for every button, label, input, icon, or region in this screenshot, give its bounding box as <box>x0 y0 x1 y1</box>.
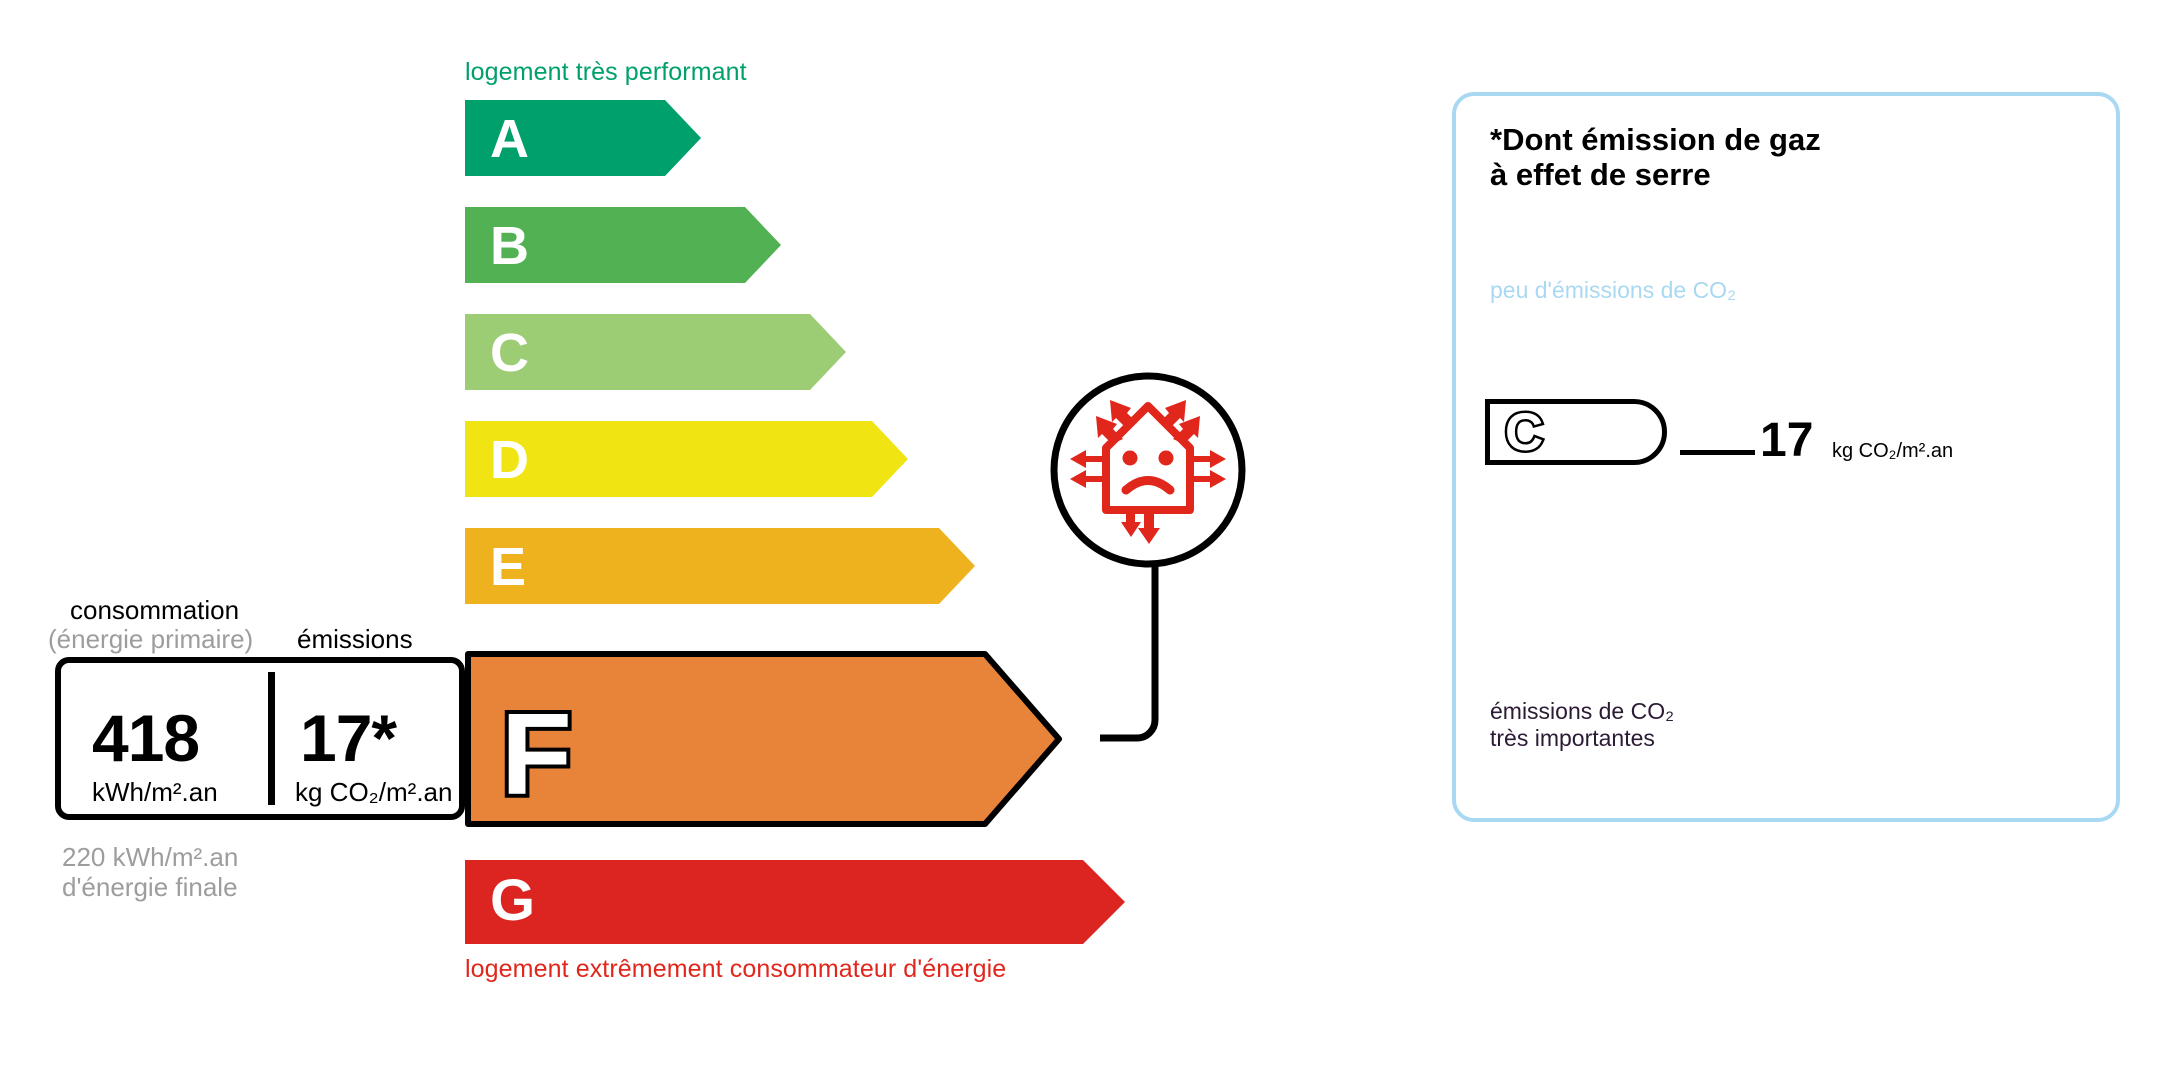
energy-band-a-shape <box>465 100 701 176</box>
energy-band-d-shape <box>465 421 908 497</box>
co2-bottom-caption-line2: très importantes <box>1490 725 1674 752</box>
co2-value: 17 <box>1760 413 1813 468</box>
primary-consumption-unit: kWh/m².an <box>92 777 218 808</box>
energy-scale-top-caption: logement très performant <box>465 58 747 87</box>
co2-bar-e[interactable]: E <box>1490 526 1740 570</box>
co2-top-caption: peu d'émissions de CO₂ <box>1490 277 1736 304</box>
energy-band-a[interactable]: A <box>465 100 701 176</box>
energy-band-e[interactable]: E <box>465 528 975 604</box>
co2-bar-b[interactable]: B <box>1490 361 1622 405</box>
final-energy-line2: d'énergie finale <box>62 872 238 902</box>
emissions-label: émissions <box>297 624 413 655</box>
energy-band-e-shape <box>465 528 975 604</box>
co2-bar-d-letter: D <box>1506 480 1532 516</box>
emission-unit: kg CO₂/m².an <box>295 777 452 808</box>
energy-band-c[interactable]: C <box>465 314 846 390</box>
sad-house-heat-loss-icon <box>1048 370 1248 570</box>
consumption-label-title: consommation <box>70 595 239 626</box>
final-energy-line1: 220 kWh/m².an <box>62 842 238 872</box>
co2-bar-a[interactable]: A <box>1490 311 1590 355</box>
co2-bar-c-letter: C <box>1505 406 1543 459</box>
co2-bar-f[interactable]: F <box>1490 576 1778 620</box>
co2-bar-a-letter: A <box>1506 315 1532 351</box>
energy-band-b[interactable]: B <box>465 207 781 283</box>
final-energy-note: 220 kWh/m².an d'énergie finale <box>62 842 238 902</box>
energy-band-f-shape: F <box>465 651 1065 827</box>
co2-bar-g[interactable]: G <box>1490 626 1815 670</box>
co2-bar-e-letter: E <box>1506 530 1530 566</box>
co2-bottom-caption-line1: émissions de CO₂ <box>1490 698 1674 725</box>
energy-band-f-selected[interactable]: F <box>465 651 1065 827</box>
co2-bar-d[interactable]: D <box>1490 476 1702 520</box>
energy-band-d[interactable]: D <box>465 421 908 497</box>
consumption-label-subtitle: (énergie primaire) <box>48 624 253 655</box>
co2-bottom-caption: émissions de CO₂ très importantes <box>1490 698 1674 751</box>
emission-value: 17* <box>300 700 396 776</box>
energy-band-g-shape <box>465 860 1125 944</box>
co2-unit: kg CO₂/m².an <box>1832 440 1953 463</box>
primary-consumption-value: 418 <box>92 700 199 776</box>
energy-band-f-letter: F <box>501 689 572 819</box>
co2-bar-g-letter: G <box>1506 630 1534 666</box>
co2-leader-line <box>1680 450 1755 455</box>
house-connector-line <box>1100 545 1280 765</box>
co2-panel-title: *Dont émission de gaz à effet de serre <box>1490 122 1821 193</box>
energy-scale-bottom-caption: logement extrêmement consommateur d'éner… <box>465 955 1006 984</box>
energy-band-b-shape <box>465 207 781 283</box>
consumption-box-divider <box>268 672 275 805</box>
co2-title-line1: *Dont émission de gaz <box>1490 122 1821 157</box>
co2-bar-f-letter: F <box>1506 580 1528 616</box>
energy-band-c-shape <box>465 314 846 390</box>
energy-band-g[interactable]: G <box>465 860 1125 944</box>
co2-bar-b-letter: B <box>1506 365 1532 401</box>
co2-title-line2: à effet de serre <box>1490 157 1821 192</box>
